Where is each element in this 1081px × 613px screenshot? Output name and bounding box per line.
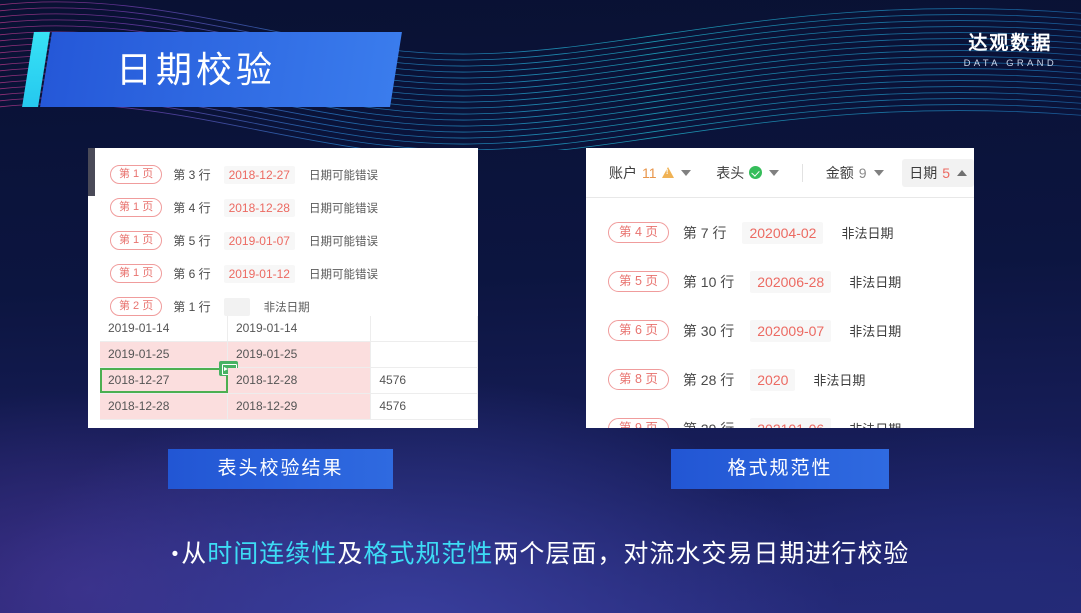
page-badge: 第 5 页 [608,271,669,292]
issue-note: 非法日期 [841,223,893,242]
right-screenshot-panel: 账户11表头金额9日期5 第 4 页第 7 行202004-02非法日期第 5 … [586,148,974,428]
issue-note: 非法日期 [264,299,310,315]
logo-english: DATA GRAND [964,58,1057,69]
page-badge: 第 2 页 [110,297,162,316]
date-value: 202006-28 [750,271,831,293]
chevron-down-icon[interactable] [874,170,884,176]
table-row[interactable]: 2019-01-142019-01-14 [100,316,478,342]
page-badge: 第 8 页 [608,369,669,390]
chevron-down-icon[interactable] [681,170,691,176]
tab-金额[interactable]: 金额9 [819,159,891,187]
issue-row[interactable]: 第 1 页第 5 行2019-01-07日期可能错误 [88,224,478,257]
logo-chinese: 达观数据 [964,28,1057,55]
tab-count: 5 [942,165,950,181]
tab-label: 日期 [909,163,937,183]
table-cell[interactable]: 4576 [371,394,478,419]
table-cell[interactable]: 2018-12-28 [100,394,228,419]
row-number: 第 6 行 [173,265,210,282]
row-number: 第 29 行 [683,419,734,429]
table-row[interactable]: 2019-01-252019-01-25 [100,342,478,368]
issue-note: 非法日期 [813,370,865,389]
page-badge: 第 1 页 [110,198,162,217]
warning-triangle-icon [662,167,674,178]
issue-row[interactable]: 第 4 页第 7 行202004-02非法日期 [586,208,974,257]
date-value: 2019-01-12 [224,265,295,283]
page-title: 日期校验 [116,32,276,107]
date-value: 202004-02 [742,222,823,244]
table-cell[interactable]: 2018-12-28 [228,368,371,393]
tab-count: 9 [859,165,867,181]
tab-label: 金额 [826,163,854,183]
issue-note: 日期可能错误 [309,200,378,216]
row-number: 第 30 行 [683,321,734,341]
slide-canvas: 日期校验 达观数据 DATA GRAND 第 1 页第 3 行2018-12-2… [0,0,1081,613]
row-number: 第 10 行 [683,272,734,292]
tab-表头[interactable]: 表头 [709,159,786,187]
table-cell[interactable]: 2018-12-29 [228,394,371,419]
table-row[interactable]: 2018-12-272018-12-284576 [100,368,478,394]
issue-row[interactable]: 第 6 页第 30 行202009-07非法日期 [586,306,974,355]
table-cell[interactable]: 2019-01-14 [100,316,228,341]
issue-note: 日期可能错误 [309,167,378,183]
tab-label: 账户 [609,163,637,183]
row-number: 第 1 行 [173,298,210,315]
issue-note: 非法日期 [849,419,901,428]
caption-right: 格式规范性 [671,449,889,489]
summary-bullet: •从时间连续性及格式规范性两个层面，对流水交易日期进行校验 [0,534,1081,570]
date-value: 2019-01-07 [224,232,295,250]
row-number: 第 7 行 [683,223,727,243]
page-badge: 第 6 页 [608,320,669,341]
issue-note: 非法日期 [849,321,901,340]
issue-row[interactable]: 第 8 页第 28 行2020非法日期 [586,355,974,404]
issue-row[interactable]: 第 1 页第 3 行2018-12-27日期可能错误 [88,158,478,191]
chevron-down-icon[interactable] [769,170,779,176]
left-issue-list: 第 1 页第 3 行2018-12-27日期可能错误第 1 页第 4 行2018… [88,148,478,323]
table-cell[interactable]: 2019-01-25 [228,342,371,367]
issue-row[interactable]: 第 1 页第 6 行2019-01-12日期可能错误 [88,257,478,290]
spreadsheet-preview: 2019-01-142019-01-142019-01-252019-01-25… [100,316,478,428]
page-badge: 第 1 页 [110,264,162,283]
bullet-highlight-2: 格式规范性 [363,540,493,568]
caption-left: 表头校验结果 [168,449,393,489]
panel-scrollbar[interactable] [88,148,95,196]
check-circle-icon [749,166,762,179]
page-badge: 第 4 页 [608,222,669,243]
bullet-dot: • [172,544,180,565]
table-cell[interactable] [371,342,478,367]
date-value: 2018-12-28 [224,199,295,217]
issue-row[interactable]: 第 1 页第 4 行2018-12-28日期可能错误 [88,191,478,224]
page-badge: 第 9 页 [608,418,669,428]
right-issue-list: 第 4 页第 7 行202004-02非法日期第 5 页第 10 行202006… [586,198,974,428]
issue-note: 日期可能错误 [309,233,378,249]
table-cell[interactable]: 4576 [371,368,478,393]
date-value: 202101-06 [750,418,831,429]
table-row[interactable]: 2018-12-282018-12-294576 [100,394,478,420]
page-badge: 第 1 页 [110,165,162,184]
chevron-up-icon[interactable] [957,170,967,176]
bullet-seg2: 及 [337,540,363,568]
page-badge: 第 1 页 [110,231,162,250]
table-cell[interactable]: 2019-01-25 [100,342,228,367]
tab-label: 表头 [716,163,744,183]
tab-count: 11 [642,165,657,181]
date-value: 2018-12-27 [224,166,295,184]
row-number: 第 28 行 [683,370,734,390]
table-cell[interactable]: 2019-01-14 [228,316,371,341]
date-value [224,298,250,316]
issue-note: 日期可能错误 [309,266,378,282]
table-cell[interactable]: 2018-12-27 [100,368,228,393]
tab-divider [802,164,803,182]
date-value: 2020 [750,369,795,391]
date-value: 202009-07 [750,320,831,342]
bullet-highlight-1: 时间连续性 [207,540,337,568]
tab-日期[interactable]: 日期5 [902,159,974,187]
issue-note: 非法日期 [849,272,901,291]
issue-row[interactable]: 第 5 页第 10 行202006-28非法日期 [586,257,974,306]
left-screenshot-panel: 第 1 页第 3 行2018-12-27日期可能错误第 1 页第 4 行2018… [88,148,478,428]
bullet-seg1: 从 [181,540,207,568]
table-cell[interactable] [371,316,478,341]
issue-row[interactable]: 第 9 页第 29 行202101-06非法日期 [586,404,974,428]
validation-tab-bar: 账户11表头金额9日期5 [586,148,974,198]
row-number: 第 3 行 [173,166,210,183]
row-number: 第 4 行 [173,199,210,216]
bullet-seg3: 两个层面，对流水交易日期进行校验 [493,540,909,568]
row-number: 第 5 行 [173,232,210,249]
brand-logo: 达观数据 DATA GRAND [964,28,1057,69]
tab-账户[interactable]: 账户11 [602,159,698,187]
